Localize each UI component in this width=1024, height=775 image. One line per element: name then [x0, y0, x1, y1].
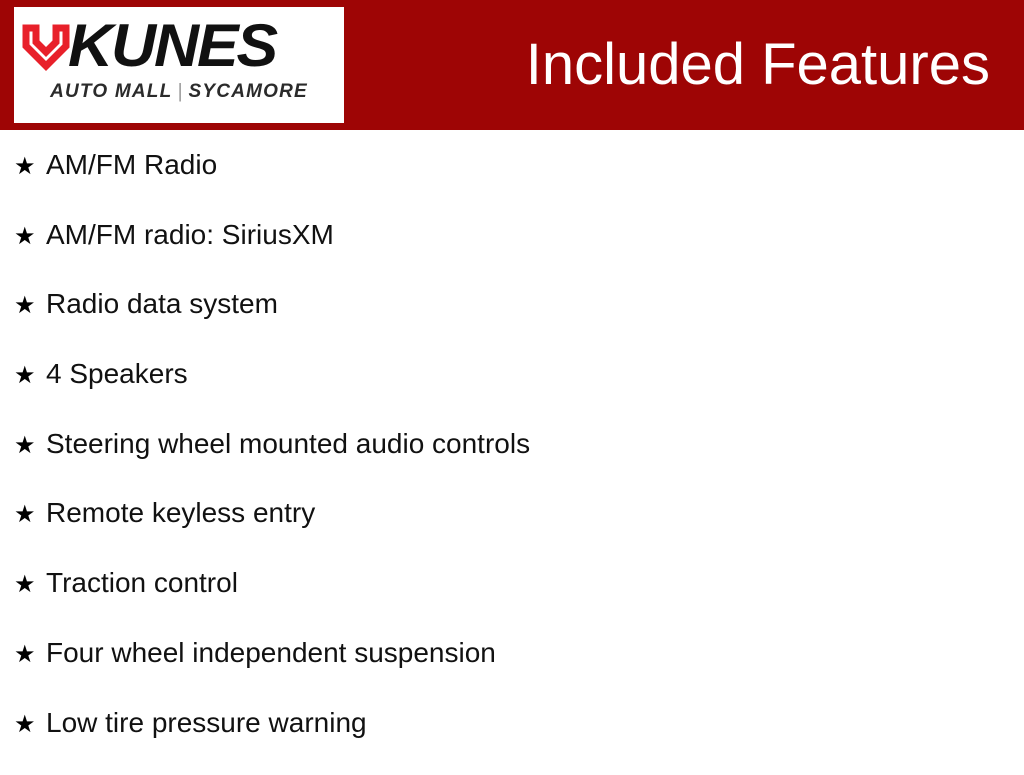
star-bullet-icon: ★ — [14, 498, 46, 532]
logo-tagline-right: SYCAMORE — [189, 81, 308, 102]
list-item: ★ Radio data system — [0, 287, 1024, 357]
header-bar: KUNES AUTO MALL|SYCAMORE Included Featur… — [0, 0, 1024, 130]
feature-label: Steering wheel mounted audio controls — [46, 427, 1024, 461]
feature-label: AM/FM Radio — [46, 148, 1024, 182]
star-bullet-icon: ★ — [14, 708, 46, 742]
feature-label: Remote keyless entry — [46, 496, 1024, 530]
logo-wordmark-row: KUNES — [14, 15, 344, 77]
slide: KUNES AUTO MALL|SYCAMORE Included Featur… — [0, 0, 1024, 768]
list-item: ★ AM/FM Radio — [0, 130, 1024, 218]
logo-tagline-separator: | — [172, 81, 188, 102]
star-bullet-icon: ★ — [14, 359, 46, 393]
list-item: ★ Traction control — [0, 566, 1024, 636]
feature-label: 4 Speakers — [46, 357, 1024, 391]
logo-tagline-left: AUTO MALL — [50, 81, 172, 102]
star-bullet-icon: ★ — [14, 568, 46, 602]
star-bullet-icon: ★ — [14, 289, 46, 323]
list-item: ★ Low tire pressure warning — [0, 706, 1024, 775]
dealer-logo: KUNES AUTO MALL|SYCAMORE — [14, 7, 344, 123]
feature-label: Four wheel independent suspension — [46, 636, 1024, 670]
feature-label: Low tire pressure warning — [46, 706, 1024, 740]
page-title: Included Features — [526, 26, 990, 104]
feature-label: Traction control — [46, 566, 1024, 600]
star-bullet-icon: ★ — [14, 150, 46, 184]
list-item: ★ Steering wheel mounted audio controls — [0, 427, 1024, 497]
list-item: ★ Remote keyless entry — [0, 496, 1024, 566]
star-bullet-icon: ★ — [14, 429, 46, 463]
logo-brand-text: KUNES — [68, 18, 276, 74]
list-item: ★ 4 Speakers — [0, 357, 1024, 427]
list-item: ★ AM/FM radio: SiriusXM — [0, 218, 1024, 288]
logo-tagline: AUTO MALL|SYCAMORE — [14, 81, 344, 103]
feature-label: AM/FM radio: SiriusXM — [46, 218, 1024, 252]
star-bullet-icon: ★ — [14, 638, 46, 672]
star-bullet-icon: ★ — [14, 220, 46, 254]
feature-label: Radio data system — [46, 287, 1024, 321]
list-item: ★ Four wheel independent suspension — [0, 636, 1024, 706]
feature-list: ★ AM/FM Radio ★ AM/FM radio: SiriusXM ★ … — [0, 130, 1024, 775]
